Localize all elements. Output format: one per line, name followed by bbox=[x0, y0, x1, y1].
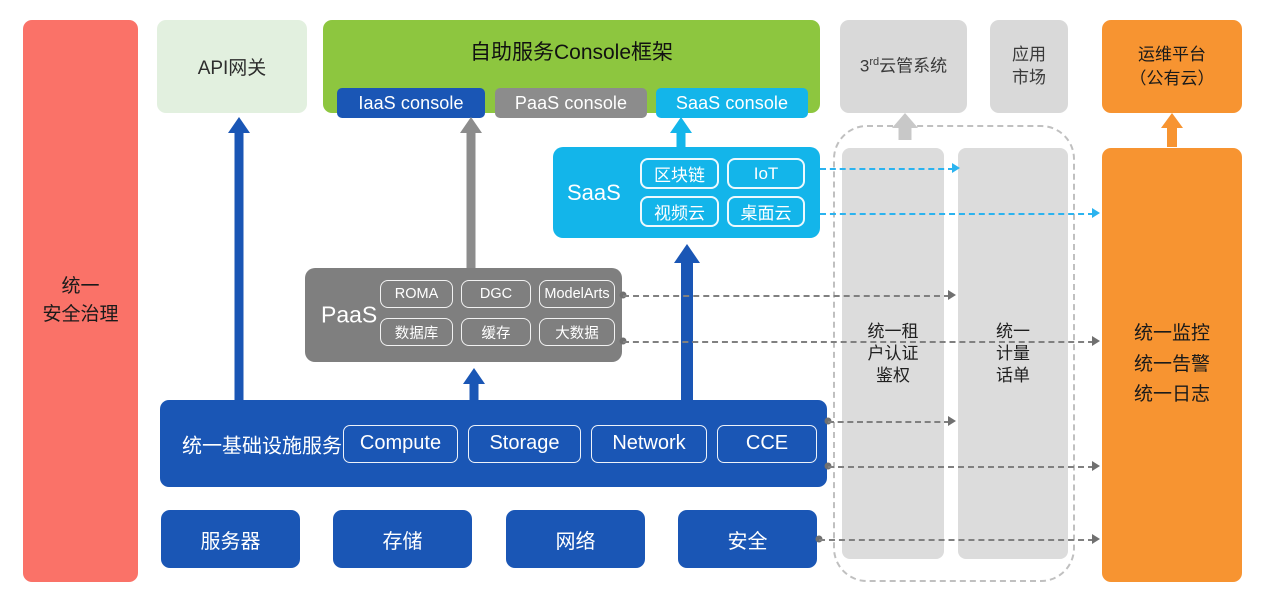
dashed-infra-to-metering bbox=[828, 421, 950, 423]
ops-platform-public-cloud-box[interactable]: 运维平台 （公有云） bbox=[1102, 20, 1242, 113]
metering-text: 统一 计量 话单 bbox=[958, 320, 1068, 386]
paas-chip-bigdata[interactable]: 大数据 bbox=[539, 318, 615, 346]
paas-chip-database[interactable]: 数据库 bbox=[380, 318, 453, 346]
unified-security-governance-panel: 统一 安全治理 bbox=[23, 20, 138, 582]
security-panel-text: 统一 安全治理 bbox=[42, 273, 118, 328]
arrow-paas-to-paas-console bbox=[460, 117, 482, 268]
security-panel-line1: 统一 bbox=[42, 273, 118, 301]
ops-monitoring-text: 统一监控 统一告警 统一日志 bbox=[1134, 319, 1210, 410]
iaas-console-chip[interactable]: IaaS console bbox=[337, 88, 485, 118]
hardware-box-server[interactable]: 服务器 bbox=[161, 510, 300, 568]
paas-block: PaaS ROMA DGC ModelArts 数据库 缓存 大数据 bbox=[305, 268, 622, 362]
tenant-auth-line3: 鉴权 bbox=[842, 365, 944, 387]
paas-console-label: PaaS console bbox=[515, 93, 627, 114]
unified-tenant-auth-column: 统一租 户认证 鉴权 bbox=[842, 148, 944, 559]
third-party-suffix: 云管系统 bbox=[879, 56, 947, 75]
hardware-network-label: 网络 bbox=[556, 525, 596, 554]
dashed-hardware-to-ops bbox=[819, 539, 1094, 541]
paas-chip-modelarts[interactable]: ModelArts bbox=[539, 280, 615, 308]
security-panel-line2: 安全治理 bbox=[42, 301, 118, 329]
saas-label: SaaS bbox=[567, 180, 621, 206]
saas-chip-iot[interactable]: IoT bbox=[727, 158, 805, 189]
third-party-cloud-mgmt-box[interactable]: 3rd云管系统 bbox=[840, 20, 967, 113]
saas-chip-desktop-cloud[interactable]: 桌面云 bbox=[727, 196, 805, 227]
third-party-cloud-mgmt-label: 3rd云管系统 bbox=[860, 55, 947, 79]
infra-chip-storage-label: Storage bbox=[489, 432, 559, 455]
infra-chip-compute[interactable]: Compute bbox=[343, 425, 458, 463]
arrow-infra-to-saas bbox=[675, 244, 699, 401]
arrowhead-hardware-to-ops bbox=[1092, 534, 1100, 544]
infrastructure-label: 统一基础设施服务 bbox=[182, 429, 342, 458]
app-market-line2: 市场 bbox=[1012, 67, 1046, 90]
self-service-console-framework: 自助服务Console框架 IaaS console PaaS console … bbox=[323, 20, 820, 113]
saas-chip-desktop-cloud-label: 桌面云 bbox=[741, 199, 792, 224]
hardware-storage-label: 存储 bbox=[383, 525, 423, 554]
hardware-security-label: 安全 bbox=[728, 525, 768, 554]
unified-infrastructure-service-bar: 统一基础设施服务 Compute Storage Network CCE bbox=[160, 400, 827, 487]
infra-chip-compute-label: Compute bbox=[360, 432, 441, 455]
paas-chip-modelarts-label: ModelArts bbox=[544, 286, 609, 302]
saas-chip-blockchain[interactable]: 区块链 bbox=[640, 158, 719, 189]
console-framework-title: 自助服务Console框架 bbox=[323, 36, 820, 66]
third-party-prefix: 3 bbox=[860, 56, 869, 75]
paas-chip-dgc[interactable]: DGC bbox=[461, 280, 531, 308]
iaas-console-label: IaaS console bbox=[358, 93, 463, 114]
saas-console-chip[interactable]: SaaS console bbox=[656, 88, 808, 118]
saas-chip-video-cloud-label: 视频云 bbox=[654, 199, 705, 224]
hardware-server-label: 服务器 bbox=[201, 525, 261, 554]
dashed-paas-to-ops bbox=[623, 341, 1094, 343]
paas-chip-dgc-label: DGC bbox=[480, 286, 512, 302]
paas-chip-cache-label: 缓存 bbox=[482, 322, 511, 343]
paas-chip-cache[interactable]: 缓存 bbox=[461, 318, 531, 346]
dashed-infra-to-ops bbox=[828, 466, 1094, 468]
dashed-saas-to-metering bbox=[820, 168, 954, 170]
ops-monitoring-panel: 统一监控 统一告警 统一日志 bbox=[1102, 148, 1242, 582]
saas-block: SaaS 区块链 IoT 视频云 桌面云 bbox=[553, 147, 820, 238]
infra-chip-network[interactable]: Network bbox=[591, 425, 707, 463]
architecture-diagram: 统一 安全治理 API网关 自助服务Console框架 IaaS console… bbox=[0, 0, 1265, 605]
app-market-box[interactable]: 应用 市场 bbox=[990, 20, 1068, 113]
hardware-box-security[interactable]: 安全 bbox=[678, 510, 817, 568]
paas-chip-roma-label: ROMA bbox=[395, 286, 439, 302]
arrowhead-saas-to-metering bbox=[952, 163, 960, 173]
ops-platform-top-text: 运维平台 （公有云） bbox=[1130, 43, 1215, 91]
saas-console-label: SaaS console bbox=[676, 93, 788, 114]
api-gateway-box[interactable]: API网关 bbox=[157, 20, 307, 113]
paas-console-chip[interactable]: PaaS console bbox=[495, 88, 647, 118]
arrow-shared-to-third-party bbox=[894, 113, 916, 140]
arrow-infra-to-paas bbox=[463, 368, 485, 401]
unified-metering-billing-column: 统一 计量 话单 bbox=[958, 148, 1068, 559]
infra-chip-cce-label: CCE bbox=[746, 432, 788, 455]
dashed-saas-to-ops bbox=[820, 213, 1094, 215]
saas-chip-video-cloud[interactable]: 视频云 bbox=[640, 196, 719, 227]
hardware-box-storage[interactable]: 存储 bbox=[333, 510, 472, 568]
arrow-infra-to-api-gateway bbox=[228, 117, 250, 400]
arrowhead-infra-to-metering bbox=[948, 416, 956, 426]
tenant-auth-line2: 户认证 bbox=[842, 342, 944, 364]
hardware-box-network[interactable]: 网络 bbox=[506, 510, 645, 568]
paas-chip-bigdata-label: 大数据 bbox=[555, 322, 599, 343]
app-market-line1: 应用 bbox=[1012, 44, 1046, 67]
tenant-auth-text: 统一租 户认证 鉴权 bbox=[842, 320, 944, 386]
third-party-superscript: rd bbox=[869, 56, 879, 68]
paas-chip-database-label: 数据库 bbox=[395, 322, 439, 343]
paas-label: PaaS bbox=[321, 302, 377, 329]
arrow-saas-to-saas-console bbox=[670, 117, 692, 148]
tenant-auth-line1: 统一租 bbox=[842, 320, 944, 342]
arrowhead-paas-to-ops bbox=[1092, 336, 1100, 346]
metering-line2: 计量 bbox=[958, 342, 1068, 364]
arrowhead-saas-to-ops bbox=[1092, 208, 1100, 218]
infra-chip-storage[interactable]: Storage bbox=[468, 425, 581, 463]
arrow-to-ops-platform bbox=[1161, 113, 1183, 147]
metering-line1: 统一 bbox=[958, 320, 1068, 342]
app-market-text: 应用 市场 bbox=[1012, 44, 1046, 90]
metering-line3: 话单 bbox=[958, 365, 1068, 387]
ops-alarm-line: 统一告警 bbox=[1134, 350, 1210, 380]
dashed-paas-to-tenant-auth bbox=[623, 295, 950, 297]
saas-chip-iot-label: IoT bbox=[754, 164, 779, 184]
api-gateway-label: API网关 bbox=[198, 53, 267, 80]
ops-log-line: 统一日志 bbox=[1134, 380, 1210, 410]
paas-chip-roma[interactable]: ROMA bbox=[380, 280, 453, 308]
saas-chip-blockchain-label: 区块链 bbox=[654, 161, 705, 186]
infra-chip-cce[interactable]: CCE bbox=[717, 425, 817, 463]
arrowhead-paas-to-tenant-auth bbox=[948, 290, 956, 300]
ops-monitor-line: 统一监控 bbox=[1134, 319, 1210, 349]
infra-chip-network-label: Network bbox=[612, 432, 685, 455]
arrowhead-infra-to-ops bbox=[1092, 461, 1100, 471]
ops-platform-top-line2: （公有云） bbox=[1130, 67, 1215, 91]
ops-platform-top-line1: 运维平台 bbox=[1130, 43, 1215, 67]
